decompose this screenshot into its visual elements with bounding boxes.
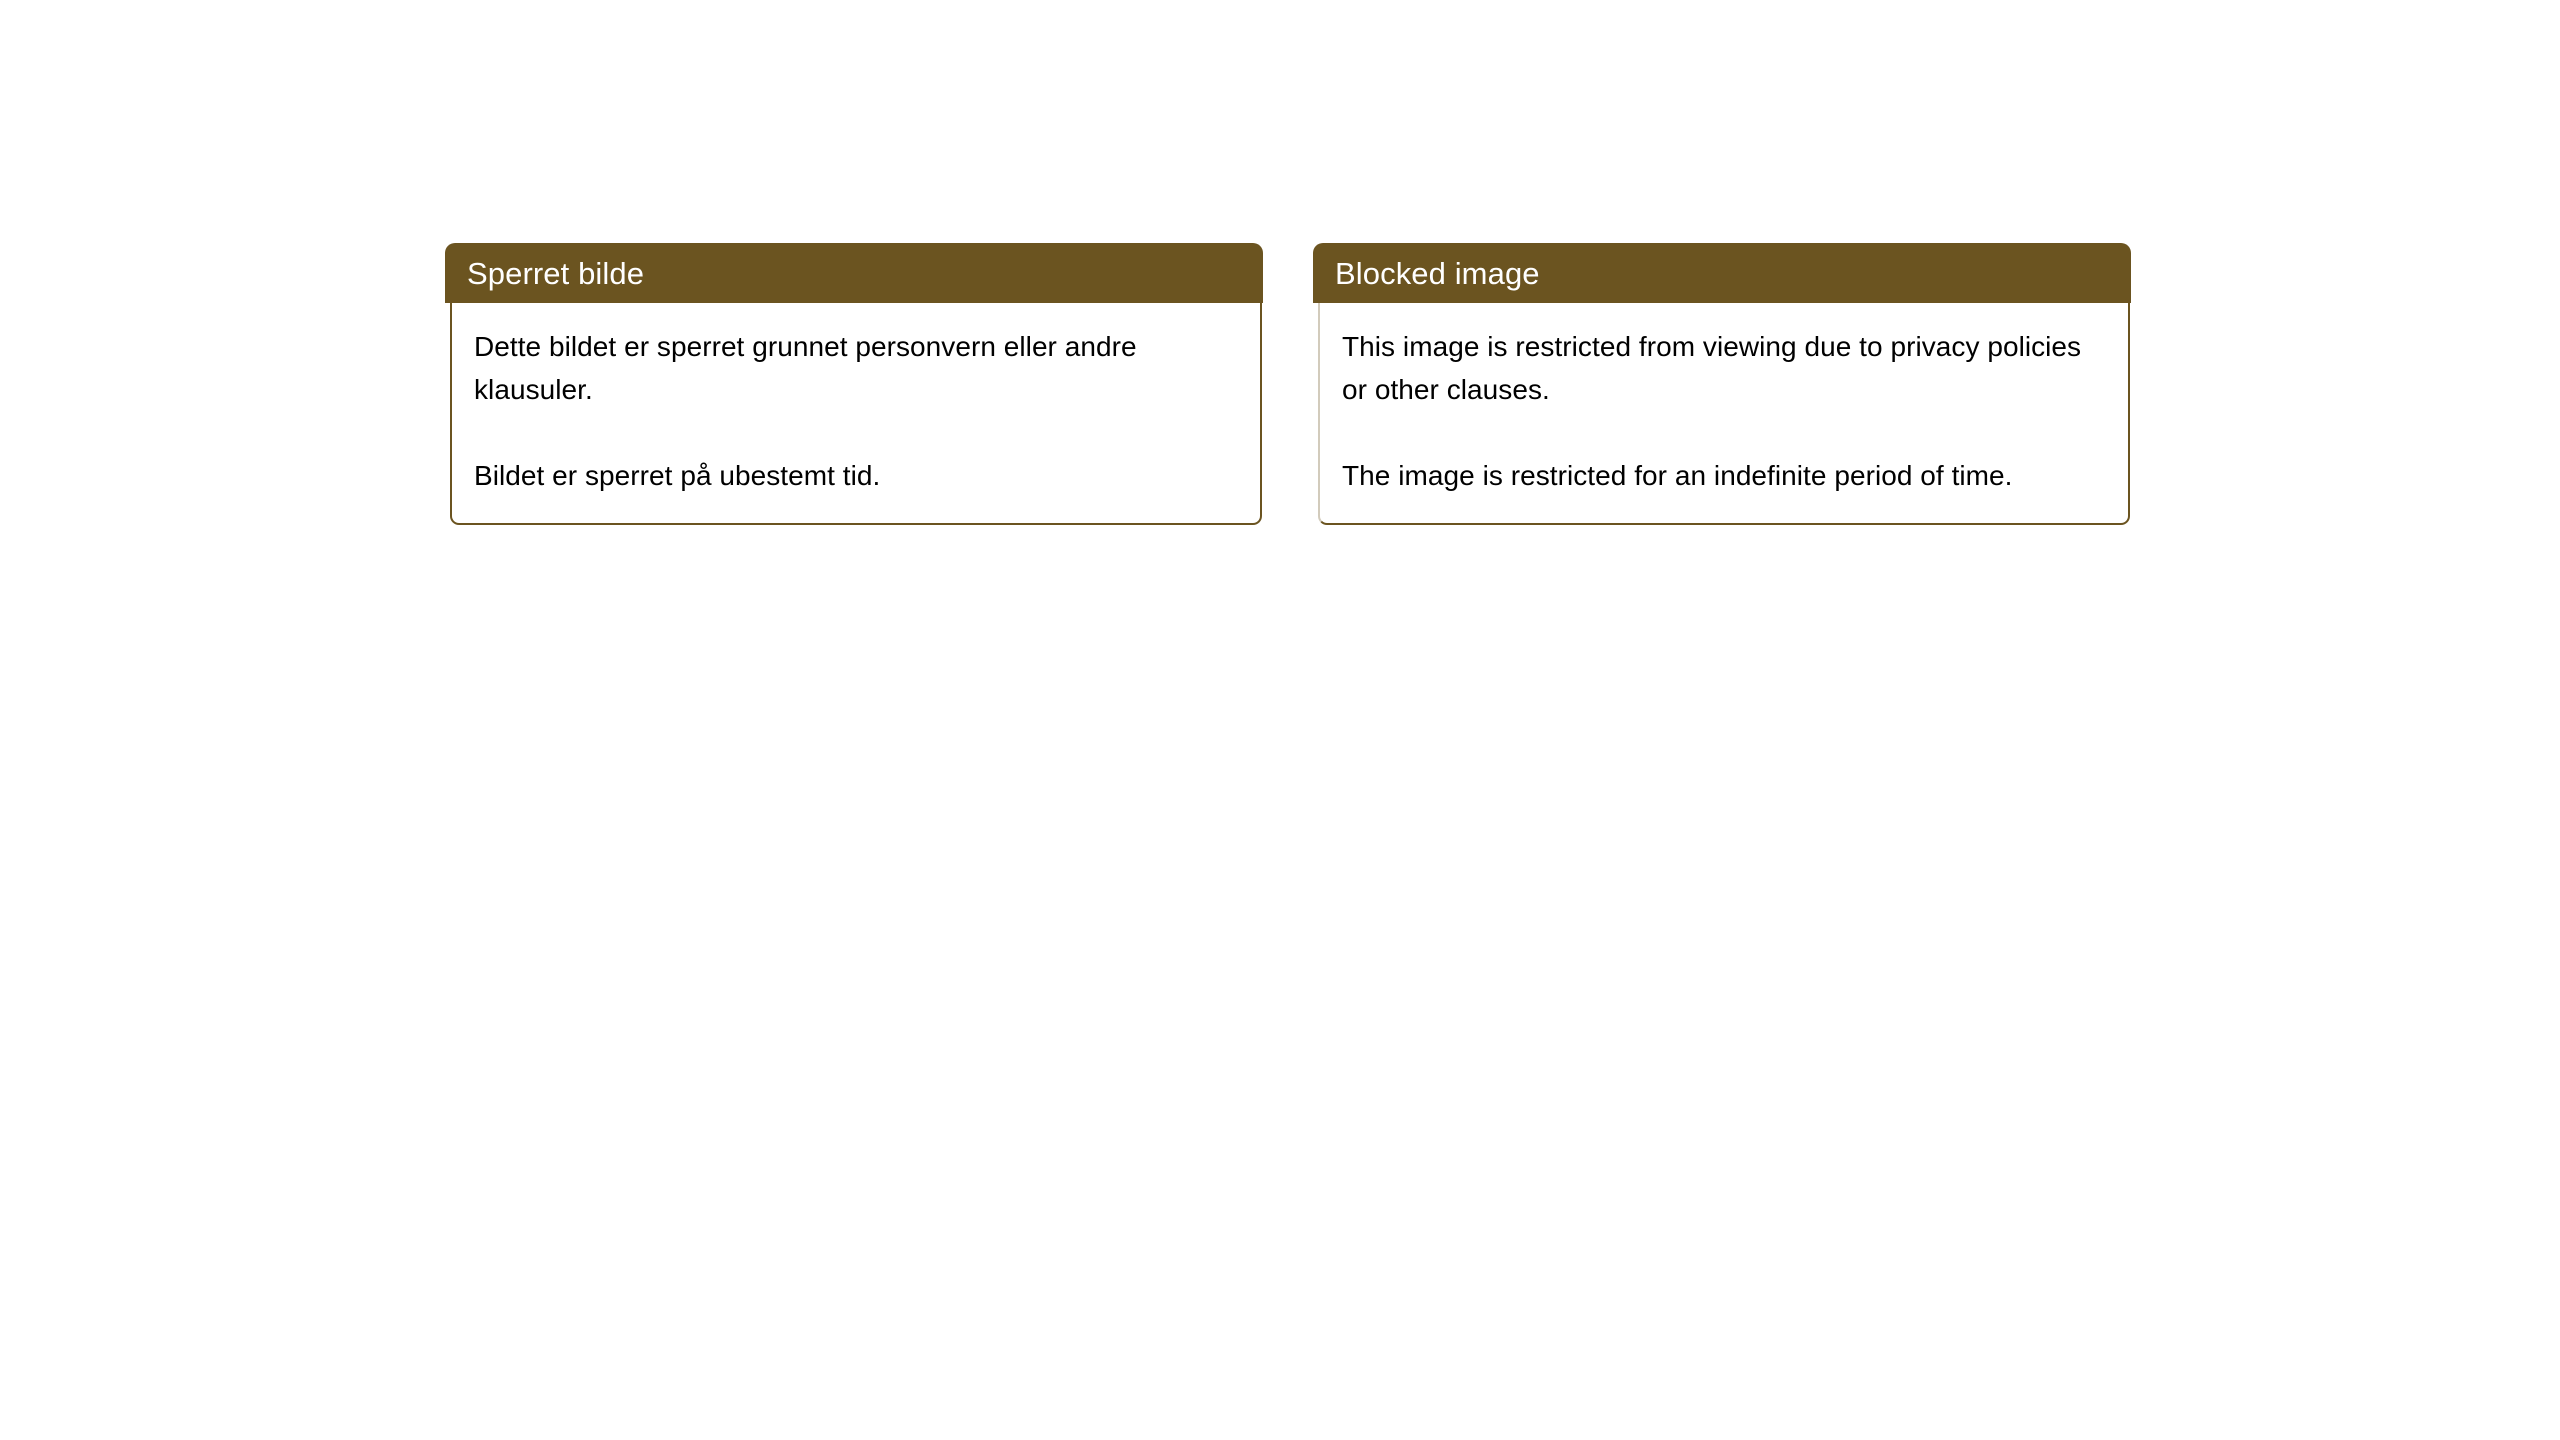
page-canvas: Sperret bilde Dette bildet er sperret gr… <box>0 0 2560 1440</box>
notice-body-en: This image is restricted from viewing du… <box>1318 303 2130 525</box>
notice-title-no: Sperret bilde <box>467 258 644 289</box>
blocked-image-notice-en: Blocked image This image is restricted f… <box>1318 243 2130 525</box>
notice-paragraph-duration-en: The image is restricted for an indefinit… <box>1342 454 2108 497</box>
notice-title-en: Blocked image <box>1335 258 1540 289</box>
notice-paragraph-duration-no: Bildet er sperret på ubestemt tid. <box>474 454 1240 497</box>
notice-paragraph-reason-no: Dette bildet er sperret grunnet personve… <box>474 325 1240 411</box>
blocked-image-notice-no: Sperret bilde Dette bildet er sperret gr… <box>450 243 1262 525</box>
notice-body-no: Dette bildet er sperret grunnet personve… <box>450 303 1262 525</box>
notice-header-en: Blocked image <box>1313 243 2131 303</box>
notice-paragraph-reason-en: This image is restricted from viewing du… <box>1342 325 2108 411</box>
notice-header-no: Sperret bilde <box>445 243 1263 303</box>
